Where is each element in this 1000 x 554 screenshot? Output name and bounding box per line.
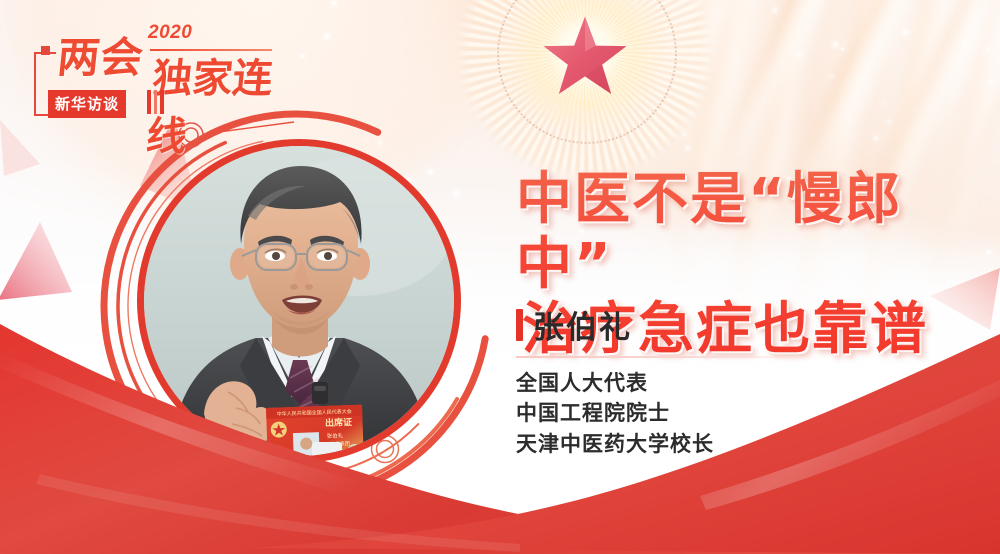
logo-secondary-text: 独家连线 [144, 46, 278, 162]
headline-line-1: 中医不是“慢郎中” [516, 167, 903, 297]
logo-main-text: 两会 [55, 24, 147, 85]
decor-triangle-left-lower [0, 222, 72, 300]
poster-canvas: 中华人民共和国全国人民代表大会 出席证 张伯礼 天津代表团 0982 [0, 0, 1000, 554]
logo-badge: 新华访谈 [48, 90, 126, 118]
logo-year: 2020 [148, 22, 192, 44]
logo-square-dot [41, 46, 50, 55]
logo-bar-3 [160, 90, 164, 114]
logo-bar-2 [154, 90, 157, 114]
logo-bar-1 [147, 90, 151, 114]
logo-bars [147, 90, 164, 114]
decor-triangle-left-upper [0, 120, 40, 176]
bottom-red-ribbon [0, 294, 1000, 554]
program-logo: 两会 2020 独家连线 新华访谈 [32, 18, 272, 114]
five-pointed-star-icon [539, 11, 631, 103]
